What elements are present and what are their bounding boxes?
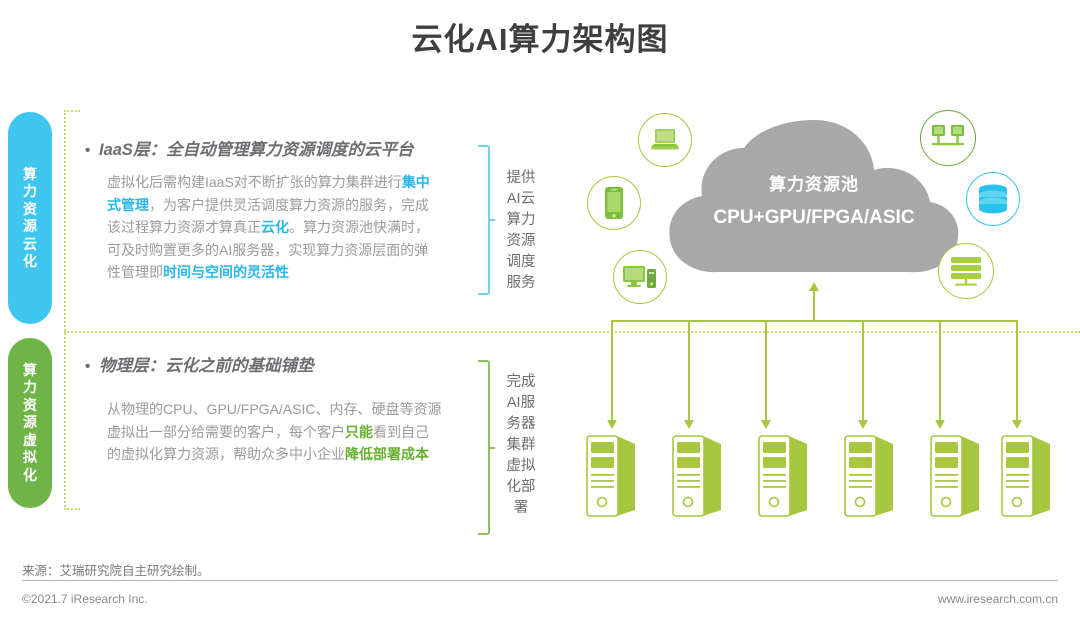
database-icon <box>977 184 1009 214</box>
downlink-arrow-icon <box>761 420 771 429</box>
downlink-arrow-icon <box>684 420 694 429</box>
pill-label-cloudification: 算力资源云化 <box>22 166 38 271</box>
mobile-phone-icon <box>603 186 625 220</box>
downlink-line <box>1016 320 1018 422</box>
server-tower <box>929 432 981 518</box>
server-tower-icon <box>843 432 895 518</box>
page-title: 云化AI算力架构图 <box>0 14 1080 59</box>
dashed-top-stub <box>64 110 80 112</box>
dashed-left-border <box>64 110 67 510</box>
pill-compute-virtualization: 算力资源虚拟化 <box>8 338 52 508</box>
copyright-text: ©2021.7 iResearch Inc. <box>22 592 148 606</box>
server-bus-line <box>611 320 1016 322</box>
footer-divider <box>22 580 1058 581</box>
downlink-arrow-icon <box>607 420 617 429</box>
physical-body-text: 从物理的CPU、GPU/FPGA/ASIC、内存、硬盘等资源虚拟出一部分给需要的… <box>107 398 442 466</box>
server-tower <box>585 432 637 518</box>
compute-resource-pool-cloud: 算力资源池 CPU+GPU/FPGA/ASIC <box>664 112 964 297</box>
uplink-line <box>813 290 815 320</box>
physical-heading-text: 物理层：云化之前的基础铺垫 <box>99 357 314 375</box>
bracket-iaas <box>478 145 490 295</box>
physical-layer-block: •物理层：云化之前的基础铺垫 从物理的CPU、GPU/FPGA/ASIC、内存、… <box>85 352 442 466</box>
highlight-blue: 云化 <box>261 219 289 235</box>
mobile-phone-icon-circle <box>587 176 641 230</box>
bracket-nub <box>488 219 495 221</box>
dashed-bottom-stub <box>64 508 80 510</box>
server-tower-icon <box>585 432 637 518</box>
server-rack-icon-circle <box>938 243 994 299</box>
downlink-line <box>688 320 690 422</box>
iaas-body-text: 虚拟化后需构建IaaS对不断扩张的算力集群进行集中式管理，为客户提供灵活调度算力… <box>107 171 442 284</box>
iaas-heading-text: IaaS层：全自动管理算力资源调度的云平台 <box>99 141 413 159</box>
network-nodes-icon-circle <box>920 110 976 166</box>
cloud-label-secondary: CPU+GPU/FPGA/ASIC <box>664 207 964 229</box>
downlink-arrow-icon <box>858 420 868 429</box>
pill-label-virtualization: 算力资源虚拟化 <box>22 362 38 485</box>
source-note: 来源：艾瑞研究院自主研究绘制。 <box>22 560 210 579</box>
laptop-icon-circle <box>638 113 692 167</box>
cloud-shape-icon <box>664 112 964 297</box>
iaas-layer-block: •IaaS层：全自动管理算力资源调度的云平台 虚拟化后需构建IaaS对不断扩张的… <box>85 136 442 284</box>
downlink-arrow-icon <box>935 420 945 429</box>
desktop-pc-icon <box>622 263 658 291</box>
downlink-arrow-icon <box>1012 420 1022 429</box>
downlink-line <box>611 320 613 422</box>
server-tower-icon <box>757 432 809 518</box>
bullet-icon: • <box>85 142 99 159</box>
uplink-arrow-icon <box>809 282 819 291</box>
desktop-pc-icon-circle <box>613 250 667 304</box>
server-tower <box>1000 432 1052 518</box>
caption-scheduling-service: 提供AI云算力资源调度服务 <box>504 168 538 294</box>
downlink-line <box>765 320 767 422</box>
server-tower-icon <box>671 432 723 518</box>
caption-virtualization-deploy: 完成AI服务器集群虚拟化部署 <box>504 372 538 519</box>
server-tower <box>671 432 723 518</box>
pill-compute-cloudification: 算力资源云化 <box>8 112 52 324</box>
downlink-line <box>939 320 941 422</box>
highlight-blue: 时间与空间的灵活性 <box>163 264 289 280</box>
database-icon-circle <box>966 172 1020 226</box>
highlight-green: 降低部署成本 <box>345 446 429 462</box>
website-url[interactable]: www.iresearch.com.cn <box>938 592 1058 606</box>
server-tower-icon <box>1000 432 1052 518</box>
server-tower-icon <box>929 432 981 518</box>
physical-heading: •物理层：云化之前的基础铺垫 <box>85 352 442 376</box>
server-tower <box>843 432 895 518</box>
highlight-green: 只能 <box>345 424 373 440</box>
server-tower <box>757 432 809 518</box>
bullet-icon: • <box>85 358 99 375</box>
bracket-nub <box>488 447 495 449</box>
server-rack-icon <box>948 255 984 287</box>
network-nodes-icon <box>930 123 966 153</box>
cloud-label-primary: 算力资源池 <box>664 170 964 195</box>
laptop-icon <box>649 126 681 154</box>
dashed-divider <box>64 331 1080 333</box>
downlink-line <box>862 320 864 422</box>
iaas-heading: •IaaS层：全自动管理算力资源调度的云平台 <box>85 136 442 160</box>
bracket-physical <box>478 360 490 535</box>
body-text-run: 虚拟化后需构建IaaS对不断扩张的算力集群进行 <box>107 174 402 190</box>
